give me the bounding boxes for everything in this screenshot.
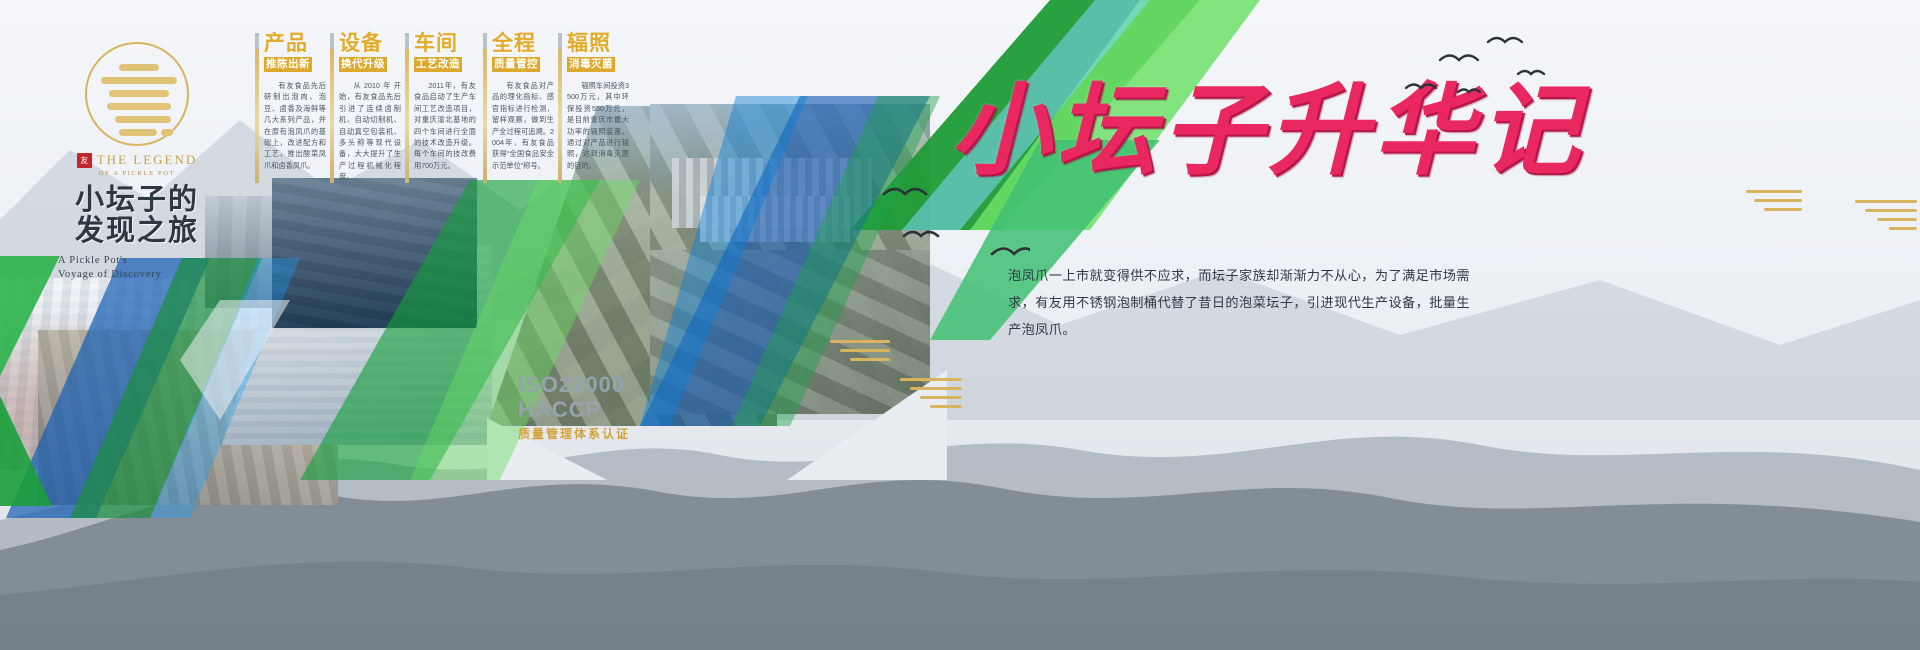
card-body: 从2010年开始，有友食品先后引进了连续卤制机、自动切制机、自动真空包装机、多头… <box>339 80 401 183</box>
legend-row: 友 THE LEGEND <box>52 152 222 168</box>
card-body: 有友食品先后研制出泡肉、泡豆、卤香及海鲜等几大系列产品，并在原有泡凤爪的基础上，… <box>264 80 326 171</box>
card-grey-bar <box>483 33 487 49</box>
legend-en-text: THE LEGEND <box>97 152 198 168</box>
photo-building-block-2 <box>700 196 850 242</box>
certification-line2: HACCP <box>518 397 630 422</box>
card-title: 车间 <box>414 33 476 54</box>
legend-en-subtext: OF A PICKLE POT <box>52 170 222 177</box>
info-card-quality[interactable]: 全程 质量管控 有友食品对产品的理化指标、感官指标进行检测，留样观察，做到生产全… <box>492 33 554 183</box>
card-subtitle: 质量管控 <box>492 57 540 72</box>
card-subtitle: 推陈出新 <box>264 57 312 72</box>
card-body: 辐照车间投资3500万元，其中环保投资550万元，是目前重庆市最大功率的辐照装置… <box>567 80 629 171</box>
card-title: 设备 <box>339 33 401 54</box>
card-gold-bar <box>405 33 409 183</box>
info-card-product[interactable]: 产品 推陈出新 有友食品先后研制出泡肉、泡豆、卤香及海鲜等几大系列产品，并在原有… <box>264 33 326 183</box>
card-title: 产品 <box>264 33 326 54</box>
card-grey-bar <box>330 33 334 49</box>
card-body: 2011年，有友食品启动了生产车间工艺改造项目，对重庆渝北基地的四个车间进行全面… <box>414 80 476 171</box>
card-grey-bar <box>405 33 409 49</box>
photo-campus-road-aerial <box>650 250 930 414</box>
brand-seal-icon: 友 <box>77 153 92 168</box>
card-title: 全程 <box>492 33 554 54</box>
card-gold-bar <box>483 33 487 183</box>
info-card-equipment[interactable]: 设备 换代升级 从2010年开始，有友食品先后引进了连续卤制机、自动切制机、自动… <box>339 33 401 183</box>
card-grey-bar <box>255 33 259 49</box>
info-card-irradiation[interactable]: 辐照 消毒灭菌 辐照车间投资3500万元，其中环保投资550万元，是目前重庆市最… <box>567 33 629 183</box>
card-grey-bar <box>558 33 562 49</box>
card-subtitle: 消毒灭菌 <box>567 57 615 72</box>
brand-block: 友 THE LEGEND OF A PICKLE POT 小坛子的 发现之旅 A… <box>52 42 222 282</box>
brand-cn-title-line1: 小坛子的 <box>52 185 222 216</box>
hero-title-text: 小坛子升华记 <box>950 76 1586 187</box>
certification-line1: ISO22000 <box>518 372 630 397</box>
card-gold-bar <box>255 33 259 183</box>
hero-paragraph: 泡凤爪一上市就变得供不应求，而坛子家族却渐渐力不从心，为了满足市场需求，有友用不… <box>1008 262 1470 343</box>
card-gold-bar <box>330 33 334 183</box>
card-subtitle: 工艺改造 <box>414 57 462 72</box>
brand-cn-title-line2: 发现之旅 <box>52 216 222 247</box>
hero-title: 小坛子升华记 <box>950 78 1510 198</box>
brand-en-title-line2: Voyage of Discovery <box>52 268 222 282</box>
card-gold-bar <box>558 33 562 183</box>
card-body: 有友食品对产品的理化指标、感官指标进行检测，留样观察，做到生产全过程可追溯。20… <box>492 80 554 171</box>
card-subtitle: 换代升级 <box>339 57 387 72</box>
pickle-pot-seal-logo-icon <box>85 42 189 146</box>
certification-line3: 质量管理体系认证 <box>518 425 630 442</box>
banner-canvas: 友 THE LEGEND OF A PICKLE POT 小坛子的 发现之旅 A… <box>0 0 1920 650</box>
certification-block: ISO22000 HACCP 质量管理体系认证 <box>518 372 630 442</box>
photo-stainless-steel-tanks <box>272 178 477 328</box>
card-title: 辐照 <box>567 33 629 54</box>
brand-en-title-line1: A Pickle Pot's <box>52 254 222 268</box>
info-card-workshop[interactable]: 车间 工艺改造 2011年，有友食品启动了生产车间工艺改造项目，对重庆渝北基地的… <box>414 33 476 183</box>
